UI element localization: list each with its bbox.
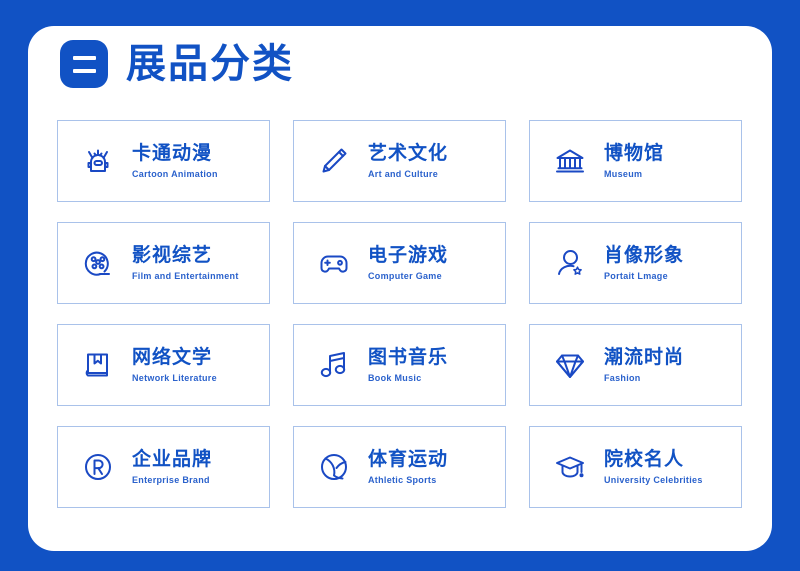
category-subtitle: Book Music [368,373,448,384]
category-grid: 卡通动漫 Cartoon Animation 艺术文化 Art and Cult… [57,120,743,508]
robot-icon [76,139,120,183]
music-note-icon [312,343,356,387]
category-card-portrait-image[interactable]: 肖像形象 Portait Lmage [529,222,742,304]
category-subtitle: Network Literature [132,373,217,384]
category-text: 博物馆 Museum [604,142,664,180]
category-title: 卡通动漫 [132,142,218,166]
diamond-icon [548,343,592,387]
category-text: 网络文学 Network Literature [132,346,217,384]
category-title: 潮流时尚 [604,346,684,370]
category-text: 肖像形象 Portait Lmage [604,244,684,282]
category-card-university-celebrities[interactable]: 院校名人 University Celebrities [529,426,742,508]
category-card-book-music[interactable]: 图书音乐 Book Music [293,324,506,406]
category-card-fashion[interactable]: 潮流时尚 Fashion [529,324,742,406]
category-title: 图书音乐 [368,346,448,370]
category-subtitle: Art and Culture [368,169,448,180]
content-panel: 展品分类 卡通动漫 Cartoon Animation [28,26,772,551]
category-text: 卡通动漫 Cartoon Animation [132,142,218,180]
category-card-network-literature[interactable]: 网络文学 Network Literature [57,324,270,406]
category-text: 体育运动 Athletic Sports [368,448,448,486]
category-card-computer-game[interactable]: 电子游戏 Computer Game [293,222,506,304]
category-card-museum[interactable]: 博物馆 Museum [529,120,742,202]
category-text: 企业品牌 Enterprise Brand [132,448,212,486]
gamepad-icon [312,241,356,285]
museum-icon [548,139,592,183]
section-header: 展品分类 [60,40,294,88]
pencil-icon [312,139,356,183]
two-bars-icon [60,40,108,88]
graduation-cap-icon [548,445,592,489]
badge-bar-bottom [73,69,96,73]
category-subtitle: Computer Game [368,271,448,282]
category-title: 体育运动 [368,448,448,472]
category-subtitle: Portait Lmage [604,271,684,282]
page-title: 展品分类 [126,44,294,84]
category-subtitle: Enterprise Brand [132,475,212,486]
category-title: 艺术文化 [368,142,448,166]
category-card-film-and-entertainment[interactable]: 影视综艺 Film and Entertainment [57,222,270,304]
ball-icon [312,445,356,489]
category-subtitle: Athletic Sports [368,475,448,486]
category-text: 影视综艺 Film and Entertainment [132,244,239,282]
category-card-athletic-sports[interactable]: 体育运动 Athletic Sports [293,426,506,508]
category-title: 肖像形象 [604,244,684,268]
category-card-cartoon-animation[interactable]: 卡通动漫 Cartoon Animation [57,120,270,202]
category-subtitle: Fashion [604,373,684,384]
category-text: 图书音乐 Book Music [368,346,448,384]
person-star-icon [548,241,592,285]
category-subtitle: Cartoon Animation [132,169,218,180]
category-subtitle: Museum [604,169,664,180]
category-title: 影视综艺 [132,244,239,268]
category-text: 艺术文化 Art and Culture [368,142,448,180]
category-title: 电子游戏 [368,244,448,268]
category-text: 院校名人 University Celebrities [604,448,703,486]
category-title: 院校名人 [604,448,703,472]
badge-bar-top [73,56,96,60]
category-title: 企业品牌 [132,448,212,472]
category-card-enterprise-brand[interactable]: 企业品牌 Enterprise Brand [57,426,270,508]
film-reel-icon [76,241,120,285]
category-title: 网络文学 [132,346,217,370]
category-text: 潮流时尚 Fashion [604,346,684,384]
category-card-art-and-culture[interactable]: 艺术文化 Art and Culture [293,120,506,202]
category-subtitle: Film and Entertainment [132,271,239,282]
category-text: 电子游戏 Computer Game [368,244,448,282]
book-icon [76,343,120,387]
registered-trademark-icon [76,445,120,489]
category-subtitle: University Celebrities [604,475,703,486]
category-title: 博物馆 [604,142,664,166]
